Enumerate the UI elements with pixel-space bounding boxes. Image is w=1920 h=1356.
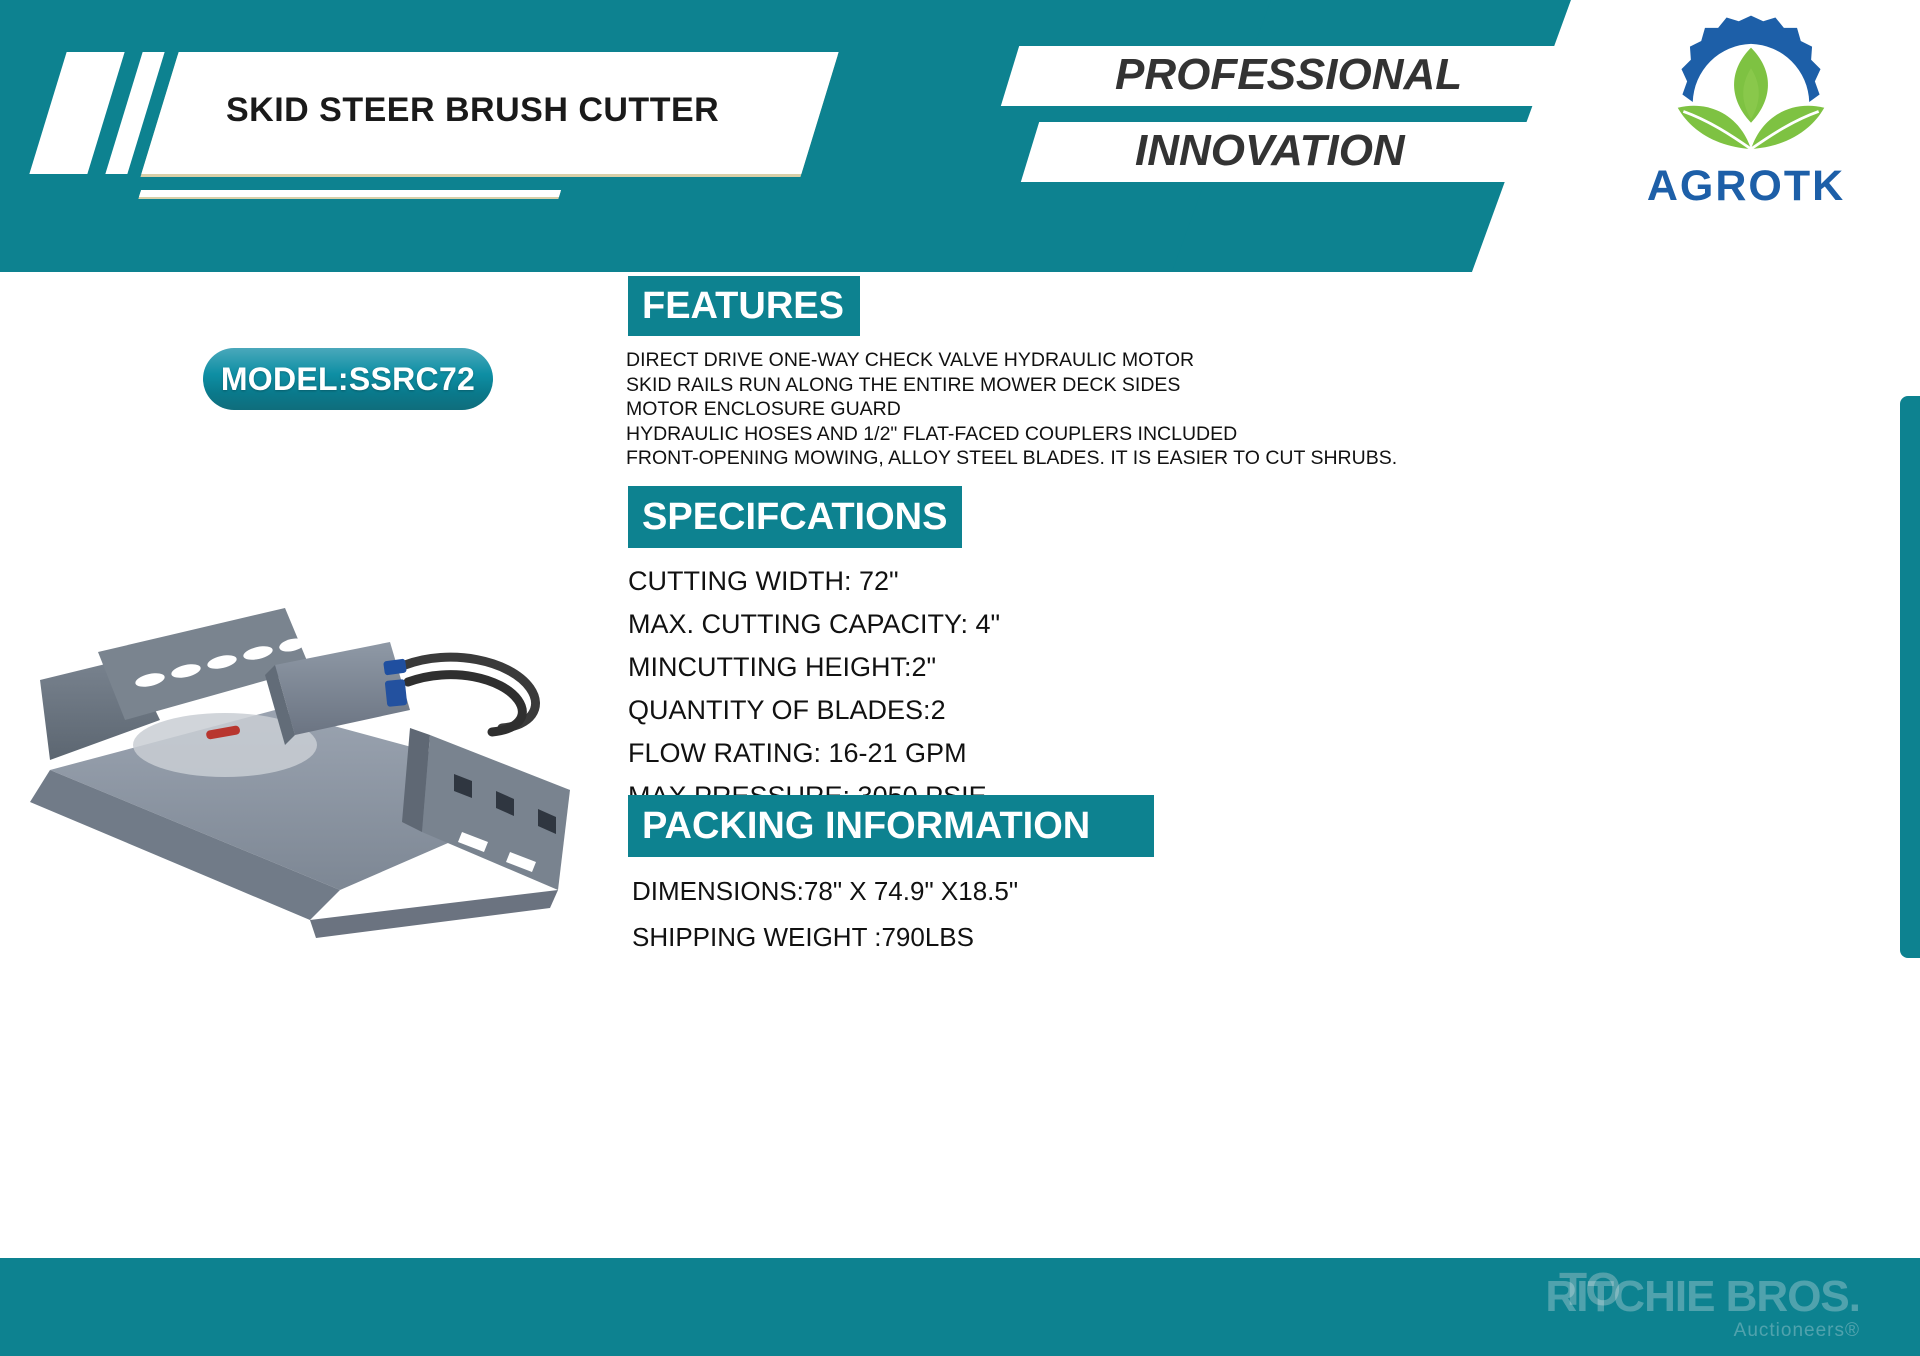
spec-sheet-page: SKID STEER BRUSH CUTTER PROFESSIONAL INN…: [0, 0, 1920, 1356]
footer-watermark-main: RITCHIE BROS.: [1545, 1274, 1860, 1320]
feature-item: MOTOR ENCLOSURE GUARD: [626, 397, 1446, 422]
spec-item: MAX. CUTTING CAPACITY: 4": [628, 603, 1188, 646]
spec-item: CUTTING WIDTH: 72": [628, 560, 1188, 603]
footer-watermark-sub: Auctioneers®: [1545, 1320, 1860, 1342]
packing-item: DIMENSIONS:78" X 74.9" X18.5": [632, 868, 1192, 914]
feature-item: FRONT-OPENING MOWING, ALLOY STEEL BLADES…: [626, 446, 1446, 471]
page-header: SKID STEER BRUSH CUTTER PROFESSIONAL INN…: [0, 0, 1920, 272]
spec-item: MINCUTTING HEIGHT:2": [628, 646, 1188, 689]
specifications-heading-label: SPECIFCATIONS: [642, 498, 947, 536]
footer-watermark: RITCHIE BROS. Auctioneers®: [1545, 1274, 1860, 1342]
feature-item: HYDRAULIC HOSES AND 1/2" FLAT-FACED COUP…: [626, 422, 1446, 447]
specifications-list: CUTTING WIDTH: 72" MAX. CUTTING CAPACITY…: [628, 560, 1188, 818]
product-photo: [10, 560, 620, 960]
model-badge: MODEL:SSRC72: [203, 348, 493, 410]
features-heading-label: FEATURES: [642, 287, 844, 325]
tagline-innovation: INNOVATION: [1135, 126, 1405, 176]
specifications-heading: SPECIFCATIONS: [628, 486, 962, 548]
spec-item: FLOW RATING: 16-21 GPM: [628, 732, 1188, 775]
packing-item: SHIPPING WEIGHT :790LBS: [632, 914, 1192, 960]
gear-leaf-icon: [1656, 10, 1846, 165]
features-list: DIRECT DRIVE ONE-WAY CHECK VALVE HYDRAUL…: [626, 348, 1446, 471]
packing-heading: PACKING INFORMATION: [628, 795, 1154, 857]
features-heading: FEATURES: [628, 276, 860, 336]
spec-item: QUANTITY OF BLADES:2: [628, 689, 1188, 732]
feature-item: DIRECT DRIVE ONE-WAY CHECK VALVE HYDRAUL…: [626, 348, 1446, 373]
brand-name: AGROTK: [1608, 162, 1884, 211]
packing-heading-label: PACKING INFORMATION: [642, 807, 1090, 845]
page-title: SKID STEER BRUSH CUTTER: [226, 80, 866, 140]
side-accent-tab: [1900, 396, 1920, 958]
header-title-underline: [139, 190, 561, 197]
brand-logo: AGROTK: [1608, 10, 1884, 222]
packing-list: DIMENSIONS:78" X 74.9" X18.5" SHIPPING W…: [632, 868, 1192, 960]
tagline-professional: PROFESSIONAL: [1115, 50, 1462, 100]
page-footer: TO RITCHIE BROS. Auctioneers®: [0, 1258, 1920, 1356]
model-badge-label: MODEL:SSRC72: [221, 361, 475, 398]
feature-item: SKID RAILS RUN ALONG THE ENTIRE MOWER DE…: [626, 373, 1446, 398]
